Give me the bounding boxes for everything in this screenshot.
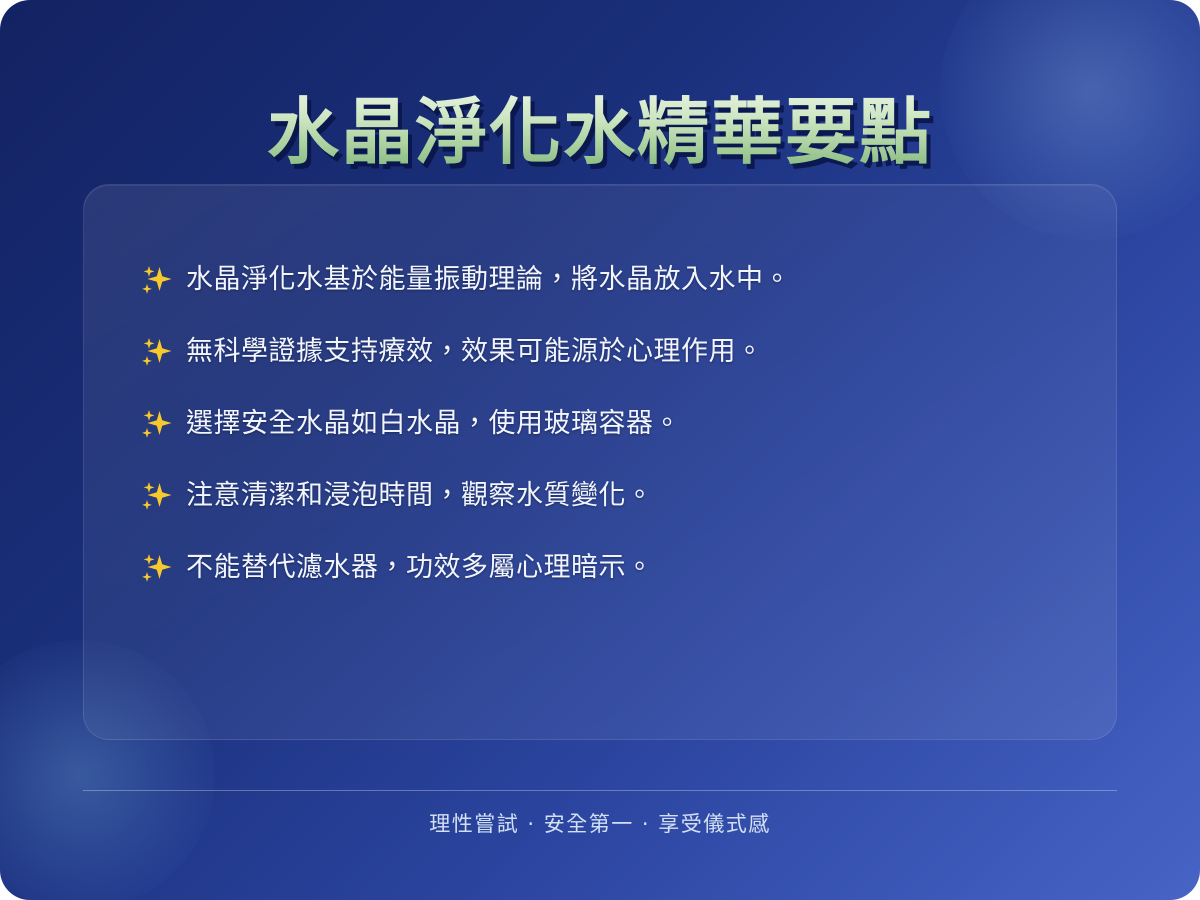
list-item: 水晶淨化水基於能量振動理論，將水晶放入水中。 — [140, 261, 1056, 299]
page-title: 水晶淨化水精華要點 — [267, 92, 933, 173]
list-item: 不能替代濾水器，功效多屬心理暗示。 — [140, 549, 1056, 587]
list-item: 無科學證據支持療效，效果可能源於心理作用。 — [140, 333, 1056, 371]
list-item-label: 水晶淨化水基於能量振動理論，將水晶放入水中。 — [186, 261, 1056, 299]
footer-tagline: 理性嘗試 · 安全第一 · 享受儀式感 — [0, 808, 1200, 838]
sparkles-icon — [140, 549, 186, 585]
slide-root: 水晶淨化水精華要點 水晶淨化水基於能量振動理論，將水晶放入水中。 — [0, 0, 1200, 900]
list-item-label: 選擇安全水晶如白水晶，使用玻璃容器。 — [186, 405, 1056, 443]
sparkles-icon — [140, 405, 186, 441]
sparkles-icon — [140, 333, 186, 369]
list-item: 選擇安全水晶如白水晶，使用玻璃容器。 — [140, 405, 1056, 443]
footer-divider — [83, 790, 1117, 791]
list-item: 注意清潔和浸泡時間，觀察水質變化。 — [140, 477, 1056, 515]
sparkles-icon — [140, 477, 186, 513]
list-item-label: 不能替代濾水器，功效多屬心理暗示。 — [186, 549, 1056, 587]
sparkles-icon — [140, 261, 186, 297]
content-card: 水晶淨化水基於能量振動理論，將水晶放入水中。 無科學證據支持療效，效果可能源於心… — [83, 184, 1117, 740]
list-item-label: 無科學證據支持療效，效果可能源於心理作用。 — [186, 333, 1056, 371]
list-item-label: 注意清潔和浸泡時間，觀察水質變化。 — [186, 477, 1056, 515]
bullet-list: 水晶淨化水基於能量振動理論，將水晶放入水中。 無科學證據支持療效，效果可能源於心… — [140, 261, 1056, 587]
